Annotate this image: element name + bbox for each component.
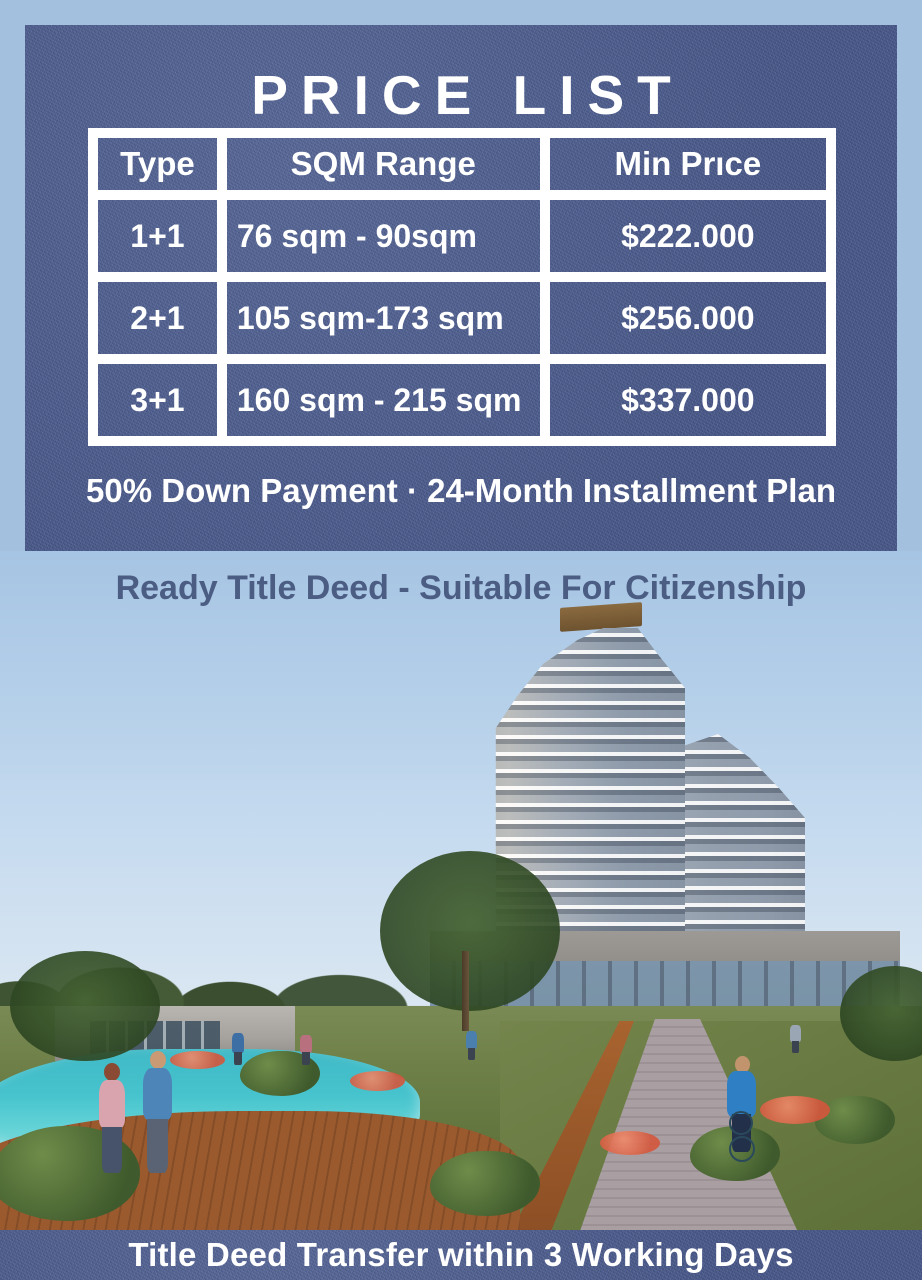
person-torso xyxy=(232,1033,244,1053)
person-head xyxy=(104,1063,120,1081)
person-legs xyxy=(147,1119,168,1173)
person-head xyxy=(150,1051,166,1069)
cell-min-price: $222.000 xyxy=(545,195,831,277)
project-render-image: Ready Title Deed - Suitable For Citizens… xyxy=(0,551,922,1230)
flower-bed xyxy=(760,1096,830,1124)
flower-bed xyxy=(170,1051,225,1069)
person-torso xyxy=(790,1025,801,1042)
cell-min-price: $337.000 xyxy=(545,359,831,441)
column-header-sqm-range: SQM Range xyxy=(222,133,545,195)
render-subtitle: Ready Title Deed - Suitable For Citizens… xyxy=(0,569,922,608)
footer-banner: Title Deed Transfer within 3 Working Day… xyxy=(0,1230,922,1280)
person-torso xyxy=(466,1031,477,1049)
person-distant xyxy=(300,1031,312,1065)
bicycle-wheel xyxy=(729,1111,753,1135)
payment-terms-text: 50% Down Payment · 24-Month Installment … xyxy=(25,473,897,509)
bicycle-wheel xyxy=(729,1136,755,1162)
tree-trunk xyxy=(462,951,469,1031)
person-woman xyxy=(95,1063,129,1173)
price-table: Type SQM Range Min Prıce 1+1 76 sqm - 90… xyxy=(88,128,836,446)
person-man xyxy=(140,1051,176,1173)
person-legs xyxy=(468,1048,475,1060)
shrub xyxy=(815,1096,895,1144)
background-tree-left xyxy=(10,951,160,1061)
person-distant xyxy=(790,1021,801,1053)
price-list-poster: PRICE LIST Type SQM Range Min Prıce 1+1 … xyxy=(0,0,922,1280)
cell-type: 2+1 xyxy=(93,277,222,359)
cell-type: 1+1 xyxy=(93,195,222,277)
table-row: 3+1 160 sqm - 215 sqm $337.000 xyxy=(93,359,831,441)
person-legs xyxy=(234,1052,242,1065)
cell-sqm-range: 76 sqm - 90sqm xyxy=(222,195,545,277)
flower-bed xyxy=(600,1131,660,1155)
person-torso xyxy=(143,1068,172,1120)
foreground-tree xyxy=(380,851,560,1011)
table-header-row: Type SQM Range Min Prıce xyxy=(93,133,831,195)
cell-sqm-range: 105 sqm-173 sqm xyxy=(222,277,545,359)
price-panel: PRICE LIST Type SQM Range Min Prıce 1+1 … xyxy=(25,25,897,551)
person-legs xyxy=(792,1041,799,1053)
person-legs xyxy=(302,1052,310,1065)
page-title: PRICE LIST xyxy=(25,68,897,123)
person-distant xyxy=(232,1029,244,1065)
person-torso xyxy=(300,1035,312,1053)
flower-bed xyxy=(350,1071,405,1091)
cell-type: 3+1 xyxy=(93,359,222,441)
shrub xyxy=(430,1151,540,1216)
table-row: 1+1 76 sqm - 90sqm $222.000 xyxy=(93,195,831,277)
person-legs xyxy=(102,1127,122,1173)
cell-min-price: $256.000 xyxy=(545,277,831,359)
column-header-min-price: Min Prıce xyxy=(545,133,831,195)
person-torso xyxy=(99,1080,125,1128)
table-row: 2+1 105 sqm-173 sqm $256.000 xyxy=(93,277,831,359)
cell-sqm-range: 160 sqm - 215 sqm xyxy=(222,359,545,441)
person-distant xyxy=(466,1027,477,1060)
column-header-type: Type xyxy=(93,133,222,195)
footer-banner-text: Title Deed Transfer within 3 Working Day… xyxy=(128,1236,793,1274)
